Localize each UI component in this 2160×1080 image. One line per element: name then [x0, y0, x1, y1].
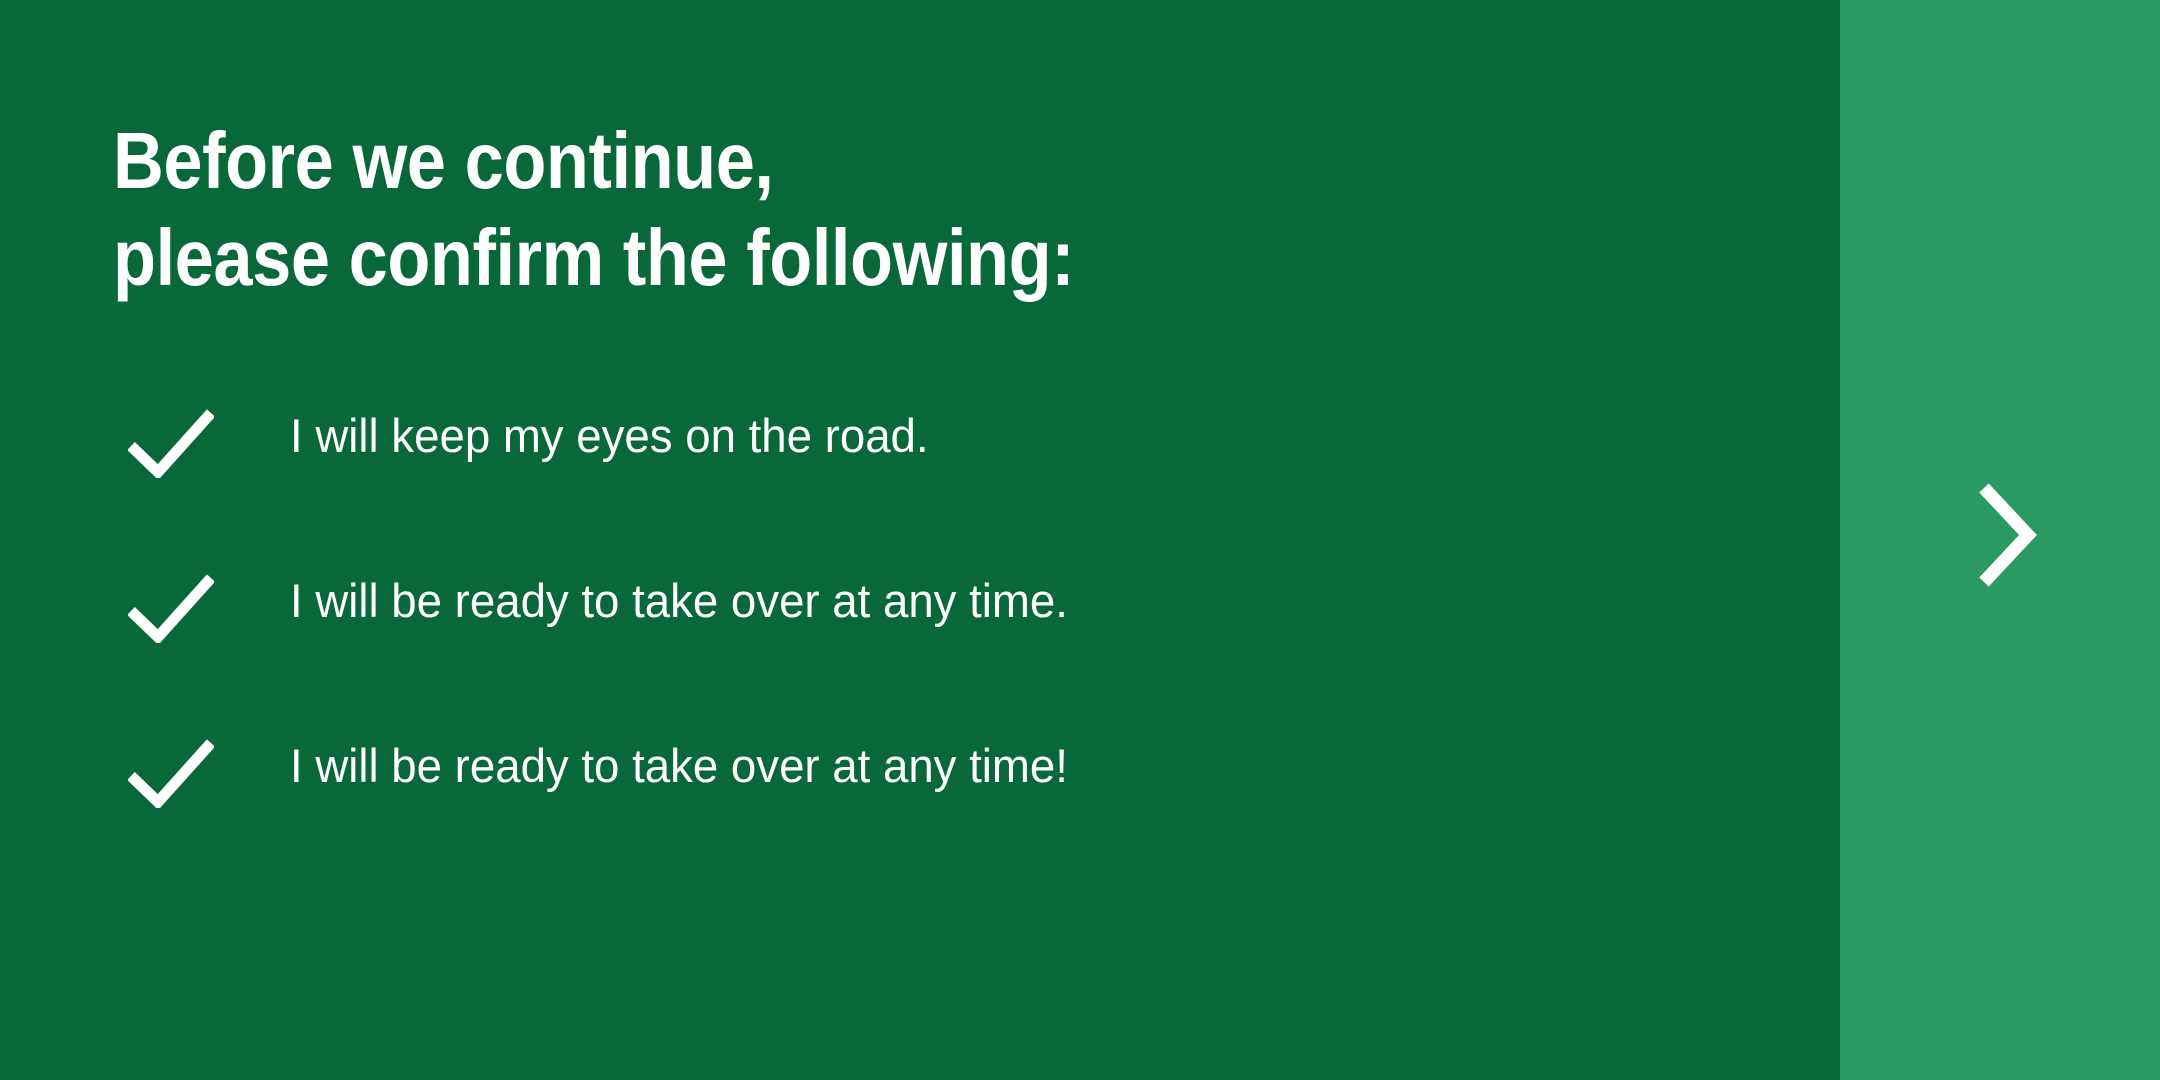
check-icon	[113, 565, 213, 655]
list-item-label: I will keep my eyes on the road.	[290, 405, 929, 467]
page-title: Before we continue, please confirm the f…	[113, 112, 1074, 306]
confirmation-checklist: I will keep my eyes on the road. I will …	[113, 400, 1713, 895]
list-item-label: I will be ready to take over at any time…	[290, 735, 1068, 797]
check-icon	[113, 730, 213, 820]
list-item[interactable]: I will keep my eyes on the road.	[113, 400, 1713, 565]
main-content: Before we continue, please confirm the f…	[113, 0, 1713, 1080]
list-item[interactable]: I will be ready to take over at any time…	[113, 730, 1713, 895]
chevron-right-icon	[1960, 480, 2040, 590]
list-item-label: I will be ready to take over at any time…	[290, 570, 1068, 632]
list-item[interactable]: I will be ready to take over at any time…	[113, 565, 1713, 730]
confirmation-screen: Before we continue, please confirm the f…	[0, 0, 2160, 1080]
next-button[interactable]	[1840, 0, 2160, 1080]
check-icon	[113, 400, 213, 490]
